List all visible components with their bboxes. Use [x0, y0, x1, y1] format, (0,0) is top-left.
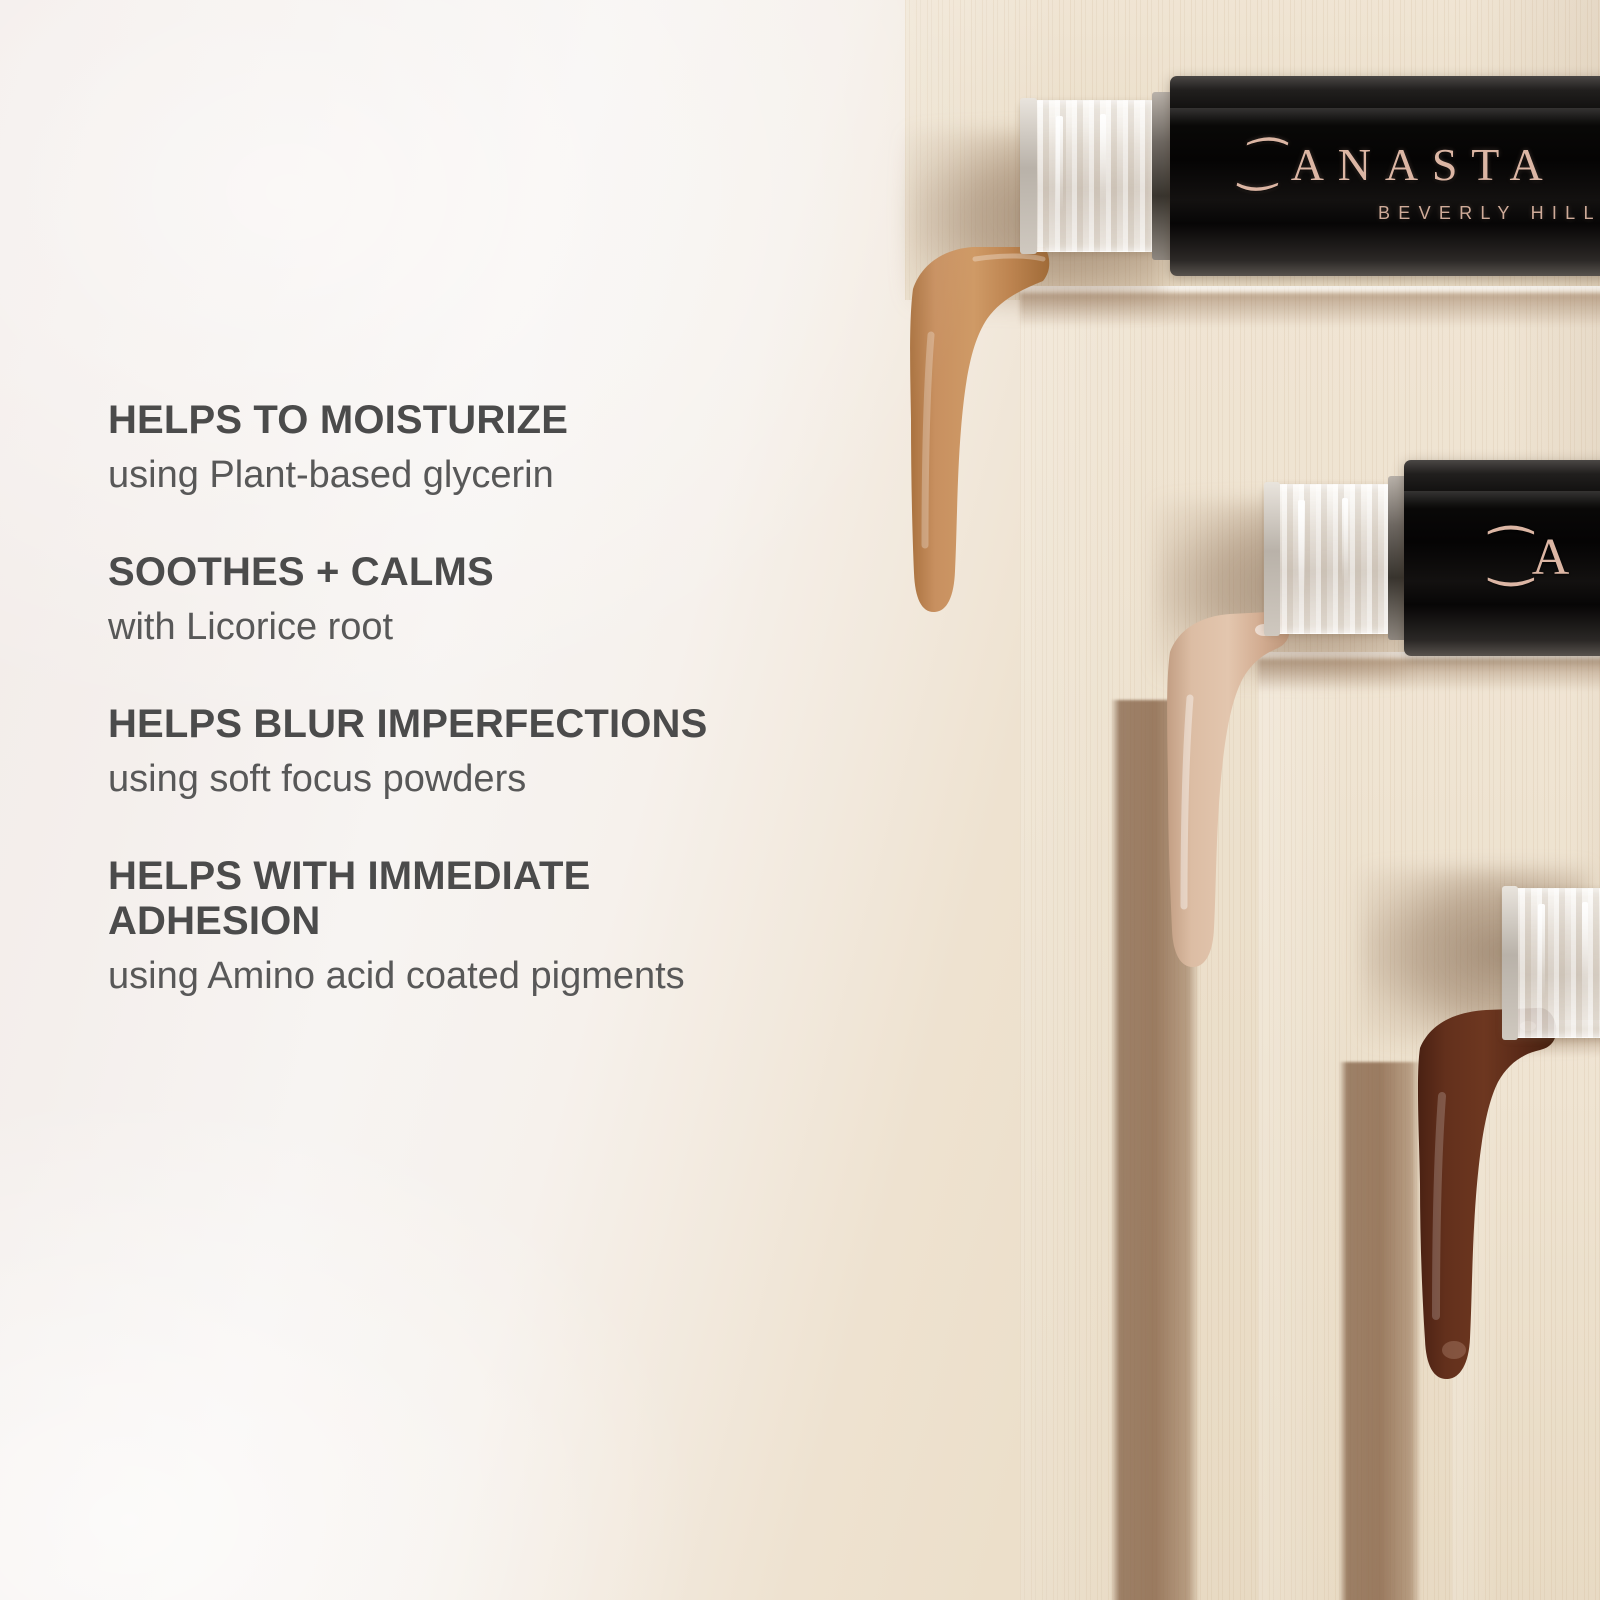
product-feature-graphic: ⁐ANASTA BEVERLY HILL — [0, 0, 1600, 1600]
cap-rim-deep — [1502, 886, 1518, 1040]
feature-title: SOOTHES + CALMS — [108, 550, 958, 596]
brand-name-text: ⁐ANASTA — [1240, 142, 1600, 188]
brand-sub-text: BEVERLY HILL — [1378, 204, 1600, 222]
feature-item-3: HELPS BLUR IMPERFECTIONS using soft focu… — [108, 702, 958, 802]
brand-lockup-tan: ⁐ANASTA BEVERLY HILL — [1240, 142, 1600, 222]
cap-gloss2-deep — [1582, 902, 1588, 988]
foundation-tube-tan[interactable]: ⁐ANASTA BEVERLY HILL — [1012, 58, 1600, 298]
feature-title: HELPS TO MOISTURIZE — [108, 398, 958, 444]
feature-title: HELPS BLUR IMPERFECTIONS — [108, 702, 958, 748]
feature-item-4: HELPS WITH IMMEDIATE ADHESION using Amin… — [108, 854, 958, 1000]
applicator-cap-light[interactable] — [1264, 484, 1392, 634]
foundation-tube-deep[interactable] — [1452, 846, 1600, 1076]
feature-item-2: SOOTHES + CALMS with Licorice root — [108, 550, 958, 650]
feature-subtitle: using soft focus powders — [108, 756, 958, 802]
wood-gap-shadow-2 — [1340, 1062, 1420, 1600]
feature-list: HELPS TO MOISTURIZE using Plant-based gl… — [108, 398, 958, 999]
cap-gloss-light — [1298, 500, 1305, 592]
applicator-cap-tan[interactable] — [1020, 100, 1156, 252]
feature-subtitle: using Plant-based glycerin — [108, 452, 958, 498]
cap-gloss-deep — [1538, 904, 1545, 998]
cap-gloss-tan — [1056, 116, 1063, 212]
cap-rim-tan — [1020, 98, 1037, 254]
cap-rim-light — [1264, 482, 1280, 636]
feature-title: HELPS WITH IMMEDIATE ADHESION — [108, 854, 808, 945]
feature-item-1: HELPS TO MOISTURIZE using Plant-based gl… — [108, 398, 958, 498]
feature-subtitle: with Licorice root — [108, 604, 958, 650]
feature-subtitle: using Amino acid coated pigments — [108, 953, 748, 999]
foundation-tube-light[interactable]: ⁐A — [1258, 440, 1600, 680]
brand-initial-light: ⁐A — [1490, 532, 1569, 584]
cap-gloss2-tan — [1100, 114, 1106, 202]
cap-gloss2-light — [1342, 498, 1348, 582]
